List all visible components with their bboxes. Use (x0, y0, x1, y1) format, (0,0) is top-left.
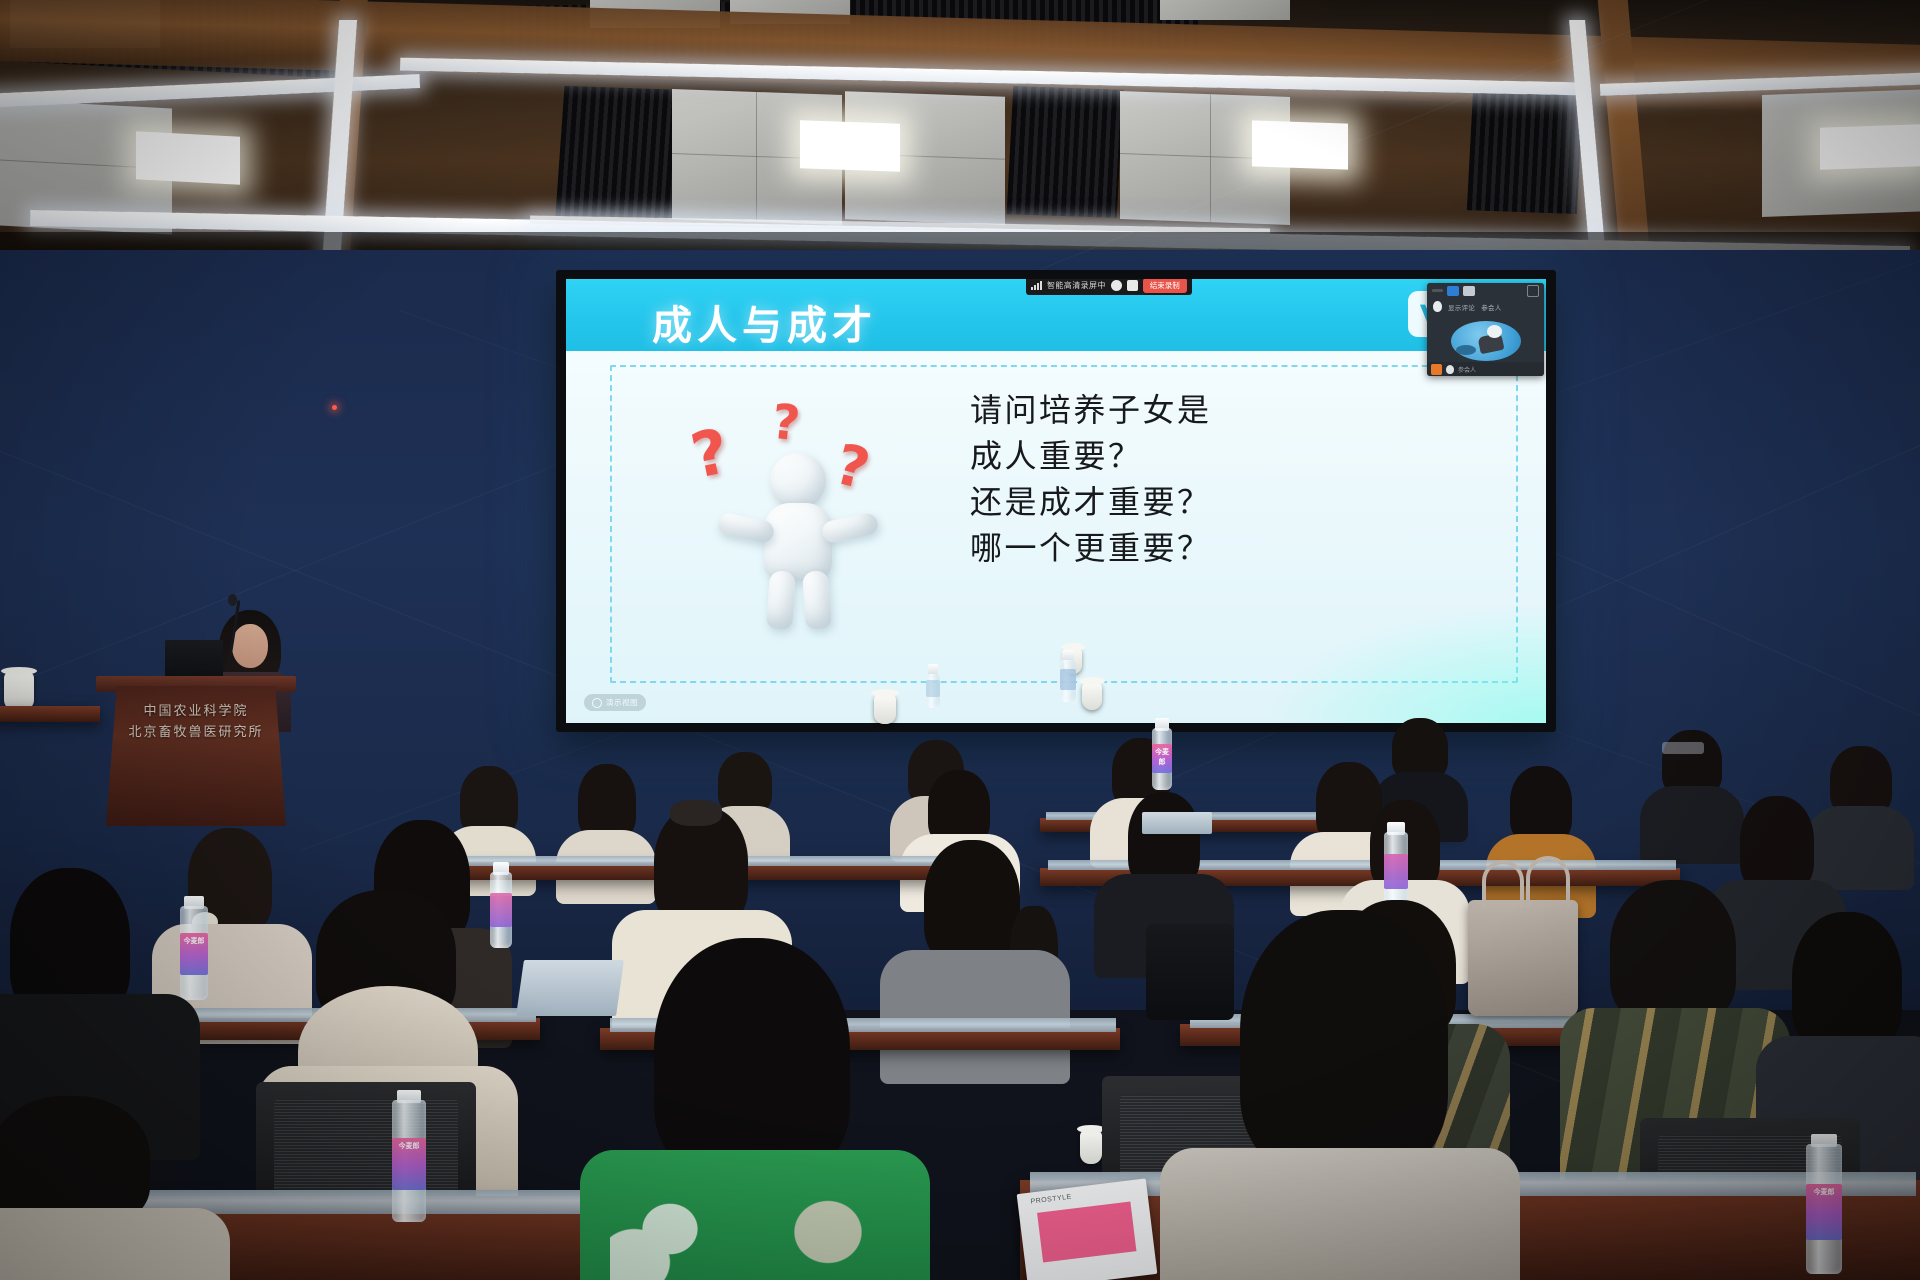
circle-dot-icon (592, 698, 602, 708)
figure-leg-left (766, 570, 796, 630)
water-bottle (1384, 822, 1408, 910)
ceiling-grille (1467, 90, 1583, 214)
ceiling-light (800, 120, 900, 171)
podium-sign-line2: 北京畜牧兽医研究所 (106, 723, 286, 744)
water-bottle: 今麦郎 (1152, 718, 1172, 790)
meeting-toolbar-item[interactable]: 参会人 (1481, 302, 1501, 312)
participant-avatar-icon (1433, 301, 1442, 312)
tea-cup (1082, 682, 1102, 710)
tea-cup (1080, 1130, 1102, 1164)
user-icon[interactable] (1127, 280, 1138, 291)
desk-row (0, 706, 100, 722)
audience-member (1160, 910, 1520, 1280)
slide-corner-button[interactable]: 演示视图 (584, 694, 646, 711)
expand-icon[interactable] (1527, 285, 1539, 297)
meeting-footer: 参会人 (1427, 362, 1544, 376)
lecture-hall-photo: 成人与成才 自动 WILLING 智能高清录屏中 (0, 0, 1920, 1280)
podium: 中国农业科学院 北京畜牧兽医研究所 (106, 686, 286, 826)
water-bottle (926, 664, 940, 708)
figure-head (770, 453, 826, 509)
bottle-brand-label: 今麦郎 (1806, 1187, 1842, 1197)
slide-text-line: 请问培养子女是 (970, 387, 1490, 433)
slide-text-block: 请问培养子女是 成人重要？ 还是成才重要？ 哪一个更重要？ (970, 387, 1490, 571)
thinking-figure-illustration: ? ? ? (686, 399, 916, 629)
ceiling-light (136, 131, 240, 184)
water-bottle: 今麦郎 (1806, 1134, 1842, 1274)
audience-member (580, 938, 930, 1280)
ceiling-grille (1007, 86, 1124, 218)
device (1142, 812, 1212, 834)
question-mark-icon: ? (685, 414, 735, 493)
small-avatar-icon (1446, 365, 1454, 374)
ceiling-panel (1160, 0, 1290, 20)
camera-feed (1451, 321, 1521, 361)
question-mark-icon: ? (829, 432, 876, 503)
podium-equipment (165, 640, 223, 680)
presenter-face (232, 624, 268, 668)
meeting-footer-label: 参会人 (1458, 365, 1476, 374)
meeting-toolbar: 显示评论 参会人 (1427, 298, 1544, 315)
restore-icon[interactable] (1447, 286, 1459, 296)
booklet-title: PROSTYLE (1030, 1193, 1072, 1205)
slide-text-line: 哪一个更重要？ (970, 525, 1490, 571)
slide-text-line: 还是成才重要？ (970, 479, 1490, 525)
laser-dot (332, 405, 337, 410)
bottle-brand-label: 今麦郎 (392, 1141, 426, 1151)
recording-status-bar: 智能高清录屏中 结束录制 (1026, 279, 1192, 295)
ceiling-grille (555, 86, 684, 220)
presentation-screen: 成人与成才 自动 WILLING 智能高清录屏中 (556, 270, 1556, 732)
cloud-icon[interactable] (1111, 280, 1122, 291)
maximize-icon[interactable] (1463, 286, 1475, 296)
audience-member (0, 1096, 230, 1280)
question-mark-icon: ? (769, 394, 803, 453)
slide-corner-label: 演示视图 (606, 697, 638, 708)
signal-bars-icon (1031, 281, 1042, 290)
ceiling (0, 0, 1920, 268)
status-bar-text: 智能高清录屏中 (1047, 280, 1106, 291)
bottle-brand-label: 今麦郎 (1152, 747, 1172, 767)
slide-title: 成人与成才 (652, 293, 877, 351)
slide-text-line: 成人重要？ (970, 433, 1490, 479)
minimize-icon[interactable] (1432, 289, 1443, 292)
slide-body: ? ? ? 请问培养子女是 成人重要？ 还是成才重要？ 哪一个更重要？ (566, 351, 1546, 723)
tea-cup (874, 694, 896, 724)
water-bottle: 今麦郎 (392, 1090, 426, 1222)
water-bottle (1060, 650, 1076, 702)
tea-cup (4, 672, 34, 710)
podium-sign: 中国农业科学院 北京畜牧兽医研究所 (106, 702, 286, 744)
meeting-overlay-window[interactable]: 显示评论 参会人 参会人 (1427, 283, 1544, 376)
ceiling-light (1820, 124, 1920, 169)
slide-surface: 成人与成才 自动 WILLING 智能高清录屏中 (566, 279, 1546, 723)
meeting-window-titlebar[interactable] (1427, 283, 1544, 298)
meeting-toolbar-item[interactable]: 显示评论 (1448, 302, 1475, 312)
figure-torso (764, 503, 832, 581)
booklet: PROSTYLE (1017, 1178, 1158, 1280)
microphone-icon (228, 594, 237, 606)
eyeglasses-icon (1662, 742, 1704, 754)
ceiling-light (1252, 120, 1348, 169)
figure-leg-right (802, 570, 832, 630)
stop-recording-button[interactable]: 结束录制 (1143, 279, 1187, 293)
mute-badge-icon[interactable] (1431, 364, 1442, 375)
podium-sign-line1: 中国农业科学院 (106, 702, 286, 723)
